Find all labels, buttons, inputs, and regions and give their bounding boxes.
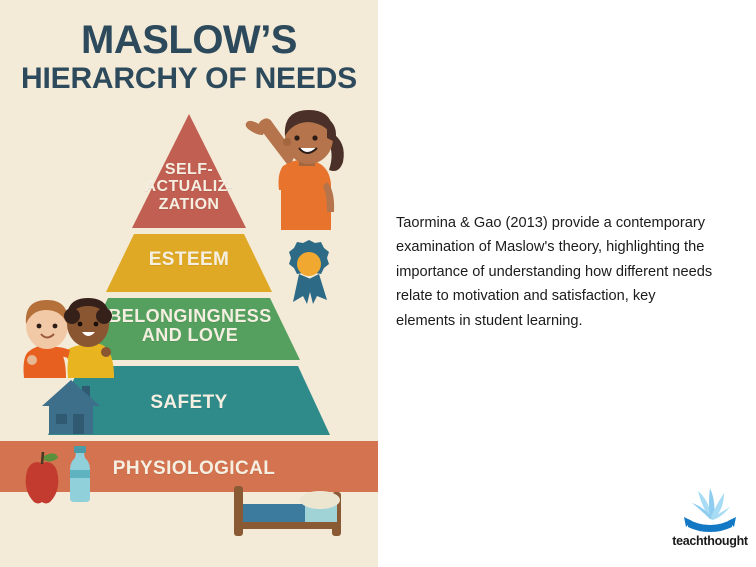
pyramid-band-physiological — [0, 441, 378, 492]
slide-canvas: MASLOW’S HIERARCHY OF NEEDS SELF- ACTUAL… — [0, 0, 756, 567]
pyramid-band-self-actualization — [132, 114, 246, 228]
commentary-text: Taormina & Gao (2013) provide a contempo… — [396, 211, 716, 334]
pyramid-band-belongingness — [78, 298, 300, 360]
pyramid-band-safety — [48, 366, 330, 435]
title-line-2: HIERARCHY OF NEEDS — [0, 62, 378, 96]
page-title: MASLOW’S HIERARCHY OF NEEDS — [0, 18, 378, 96]
pyramid-bands — [0, 112, 378, 492]
teachthought-wordmark: teachthought — [672, 534, 748, 548]
title-line-1: MASLOW’S — [0, 18, 378, 62]
pyramid-band-esteem — [106, 234, 272, 292]
teachthought-logo[interactable]: teachthought — [672, 487, 748, 553]
pyramid-diagram: SELF- ACTUALIZ- ZATION ESTEEM BELONGINGN… — [0, 112, 378, 492]
maslow-infographic-panel: MASLOW’S HIERARCHY OF NEEDS SELF- ACTUAL… — [0, 0, 378, 567]
open-book-pages-logo-icon — [682, 487, 738, 533]
